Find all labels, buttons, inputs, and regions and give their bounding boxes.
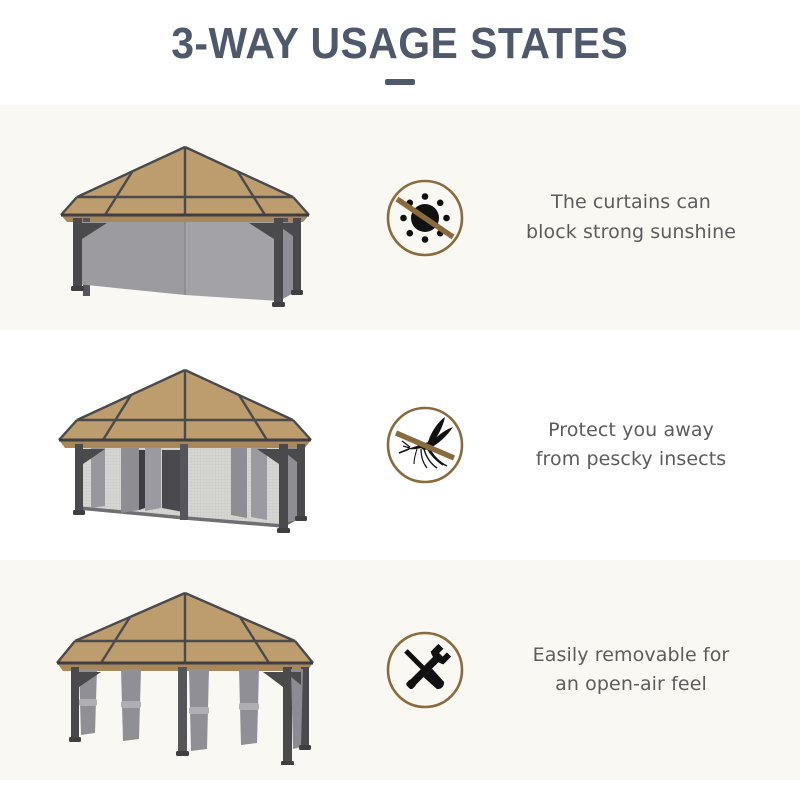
no-sun-icon [383,176,467,260]
feature-text-row-3: Easily removable for an open-air feel [480,560,800,780]
title-divider-dash [385,79,415,85]
feature-row-3: Easily removable for an open-air feel [0,560,800,780]
band-footer [0,780,800,800]
gazebo-illustration-open [35,575,335,765]
gazebo-illustration-closed [35,123,335,313]
feature-text-row-1: The curtains can block strong sunshine [480,105,800,330]
feature-line: Protect you away [548,416,714,445]
feature-line: Easily removable for [533,641,730,670]
feature-text-row-2: Protect you away from pescky insects [480,330,800,560]
feature-line: from pescky insects [536,445,727,474]
feature-line: block strong sunshine [526,218,736,247]
gazebo-illustration-netting [35,350,335,540]
feature-line: The curtains can [551,188,711,217]
feature-line: an open-air feel [555,670,707,699]
no-mosquito-icon [383,403,467,487]
header: 3-WAY USAGE STATES [0,0,800,105]
gazebo-photo-curtains-closed [0,105,370,330]
gazebo-photo-mosquito-netting [0,330,370,560]
icon-cell-row-2 [370,330,480,560]
icon-cell-row-1 [370,105,480,330]
infographic-page: 3-WAY USAGE STATES [0,0,800,800]
page-title: 3-WAY USAGE STATES [171,22,628,66]
icon-cell-row-3 [370,560,480,780]
gazebo-photo-open-air [0,560,370,780]
wrench-screwdriver-icon [383,628,467,712]
feature-row-1: The curtains can block strong sunshine [0,105,800,330]
feature-row-2: Protect you away from pescky insects [0,330,800,560]
